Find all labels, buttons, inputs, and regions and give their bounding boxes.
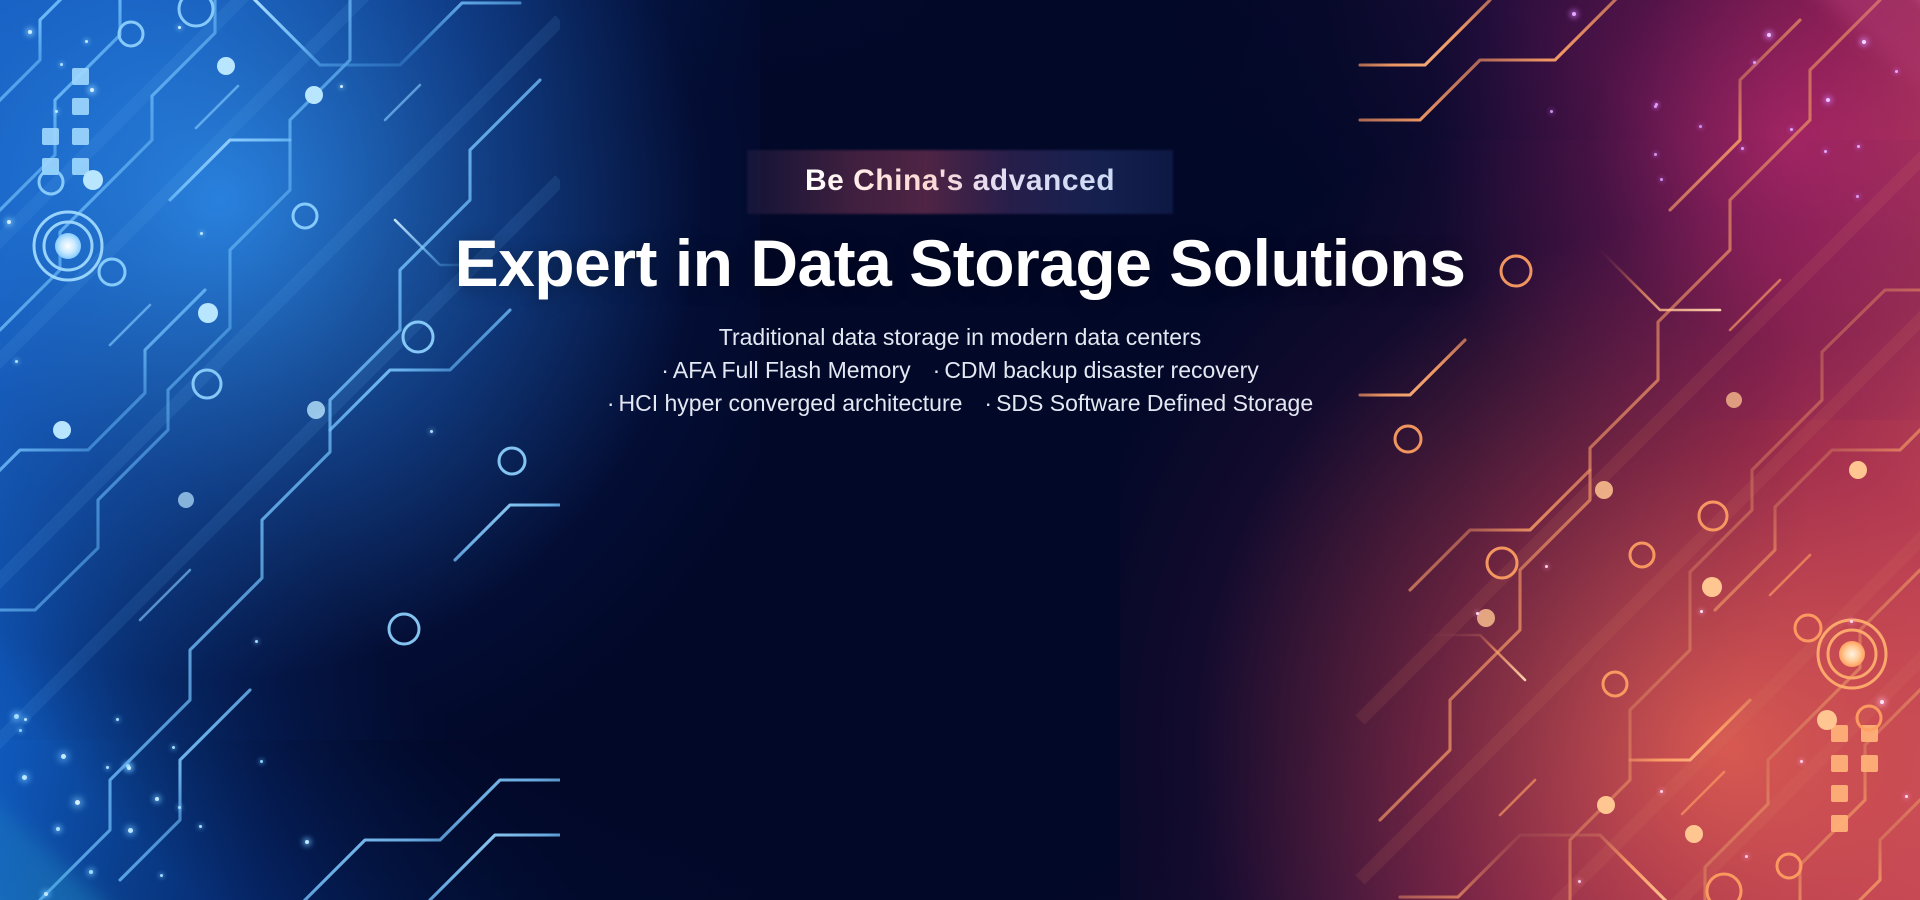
feature-label: AFA Full Flash Memory — [673, 357, 911, 383]
eyebrow-highlight-band: Be China's advanced — [747, 150, 1173, 214]
feature-row-2: ·HCI hyper converged architecture ·SDS S… — [0, 387, 1920, 420]
feature-label: SDS Software Defined Storage — [996, 390, 1313, 416]
feature-item-hci: ·HCI hyper converged architecture — [607, 387, 963, 420]
eyebrow-text: Be China's advanced — [805, 164, 1115, 198]
feature-item-sds: ·SDS Software Defined Storage — [984, 387, 1313, 420]
feature-label: CDM backup disaster recovery — [944, 357, 1258, 383]
hero-content: Be China's advanced Expert in Data Stora… — [0, 150, 1920, 419]
bullet-dot-icon: · — [984, 390, 992, 416]
subtitle-block: Traditional data storage in modern data … — [0, 321, 1920, 419]
bullet-dot-icon: · — [661, 357, 669, 383]
feature-item-afa: ·AFA Full Flash Memory — [661, 354, 910, 387]
page-title: Expert in Data Storage Solutions — [0, 228, 1920, 299]
hero-banner: Be China's advanced Expert in Data Stora… — [0, 0, 1920, 900]
bullet-dot-icon: · — [607, 390, 615, 416]
feature-item-cdm: ·CDM backup disaster recovery — [933, 354, 1259, 387]
feature-row-1: ·AFA Full Flash Memory ·CDM backup disas… — [0, 354, 1920, 387]
subtitle-text: Traditional data storage in modern data … — [0, 321, 1920, 354]
bullet-dot-icon: · — [933, 357, 941, 383]
feature-label: HCI hyper converged architecture — [619, 390, 963, 416]
